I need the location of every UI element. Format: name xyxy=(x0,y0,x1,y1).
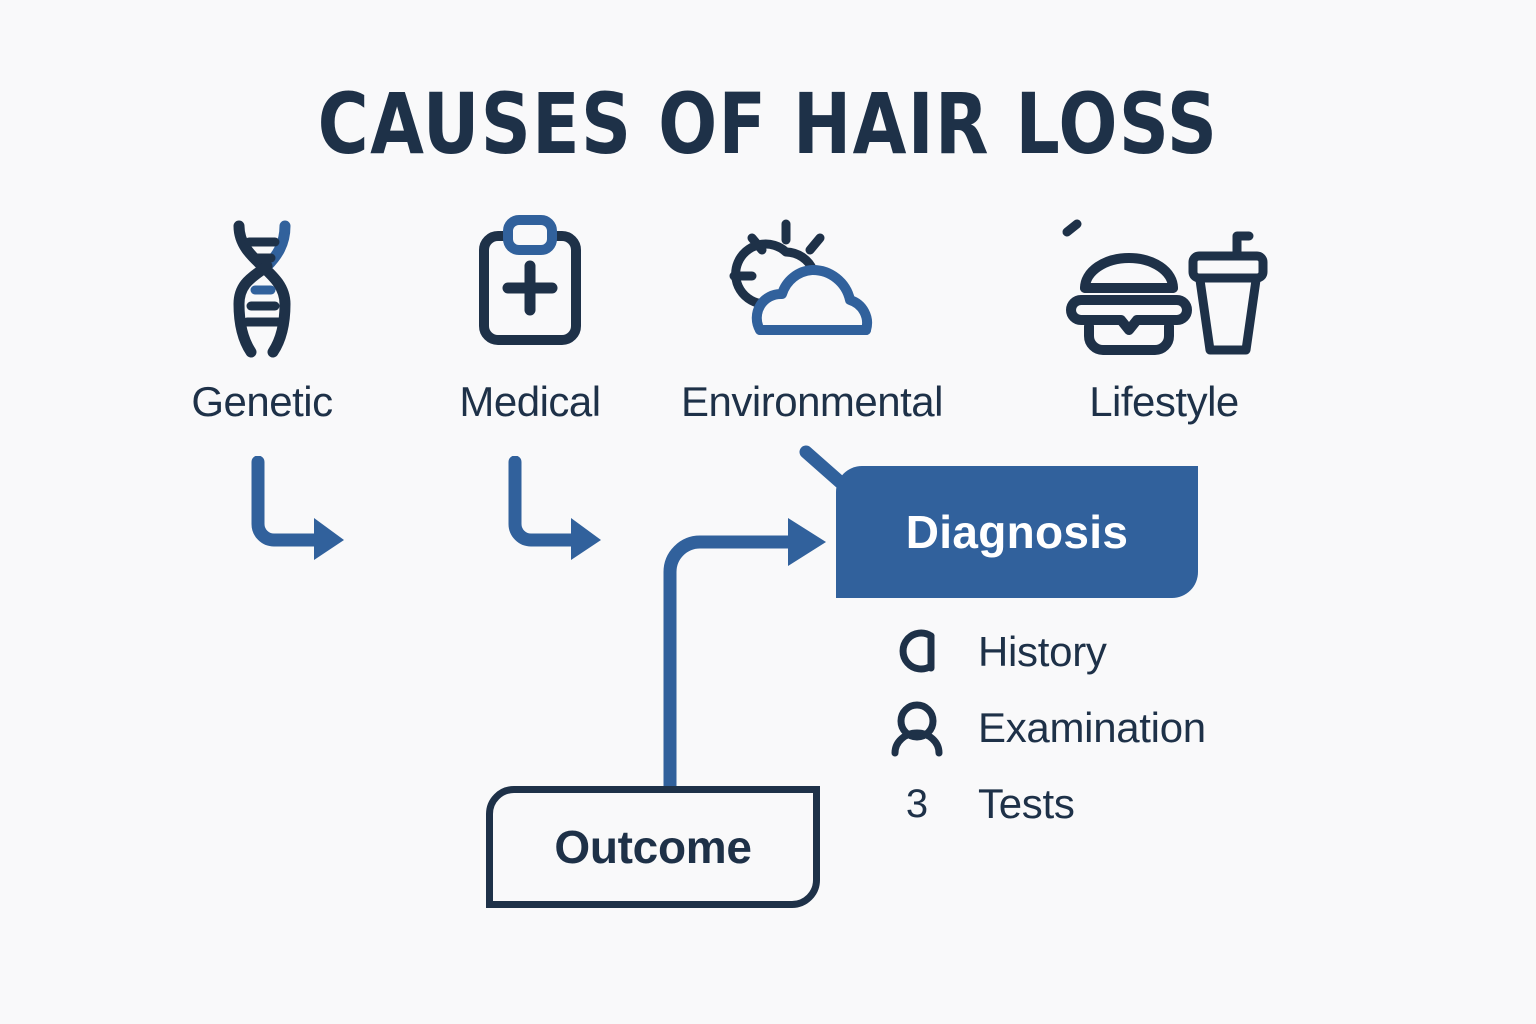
cause-column-environmental: Environmental xyxy=(662,214,962,426)
list-item[interactable]: 3 Tests xyxy=(884,766,1304,842)
outcome-box[interactable]: Outcome xyxy=(486,786,820,908)
cause-column-genetic: Genetic xyxy=(112,214,412,426)
list-item-label: History xyxy=(950,628,1107,676)
person-head-icon xyxy=(884,699,950,757)
burger-drink-icon xyxy=(1014,214,1314,362)
diagnosis-box[interactable]: Diagnosis xyxy=(836,466,1198,598)
clipboard-plus-icon xyxy=(380,214,680,362)
cause-label-lifestyle: Lifestyle xyxy=(1014,378,1314,426)
cause-label-environmental: Environmental xyxy=(662,378,962,426)
cause-label-genetic: Genetic xyxy=(112,378,412,426)
tests-count: 3 xyxy=(884,782,950,827)
list-item[interactable]: Examination xyxy=(884,690,1304,766)
cause-label-medical: Medical xyxy=(380,378,680,426)
list-item-label: Tests xyxy=(950,780,1075,828)
page-title: CAUSES OF HAIR LOSS xyxy=(61,82,1474,166)
arrow-medical-to-diagnosis xyxy=(505,456,615,571)
history-arc-icon xyxy=(884,626,950,678)
dna-helix-icon xyxy=(112,214,412,362)
sun-cloud-icon xyxy=(662,214,962,362)
diagnosis-detail-list: History Examination 3 Tests xyxy=(884,614,1304,842)
infographic-canvas: CAUSES OF HAIR LOSS Genetic xyxy=(0,0,1536,1024)
cause-column-lifestyle: Lifestyle xyxy=(1014,214,1314,426)
list-item[interactable]: History xyxy=(884,614,1304,690)
arrow-genetic-to-diagnosis xyxy=(248,456,358,571)
outcome-label: Outcome xyxy=(554,820,751,874)
diagnosis-label: Diagnosis xyxy=(906,505,1129,559)
cause-column-medical: Medical xyxy=(380,214,680,426)
list-item-label: Examination xyxy=(950,704,1206,752)
arrow-outcome-to-diagnosis xyxy=(630,500,850,805)
